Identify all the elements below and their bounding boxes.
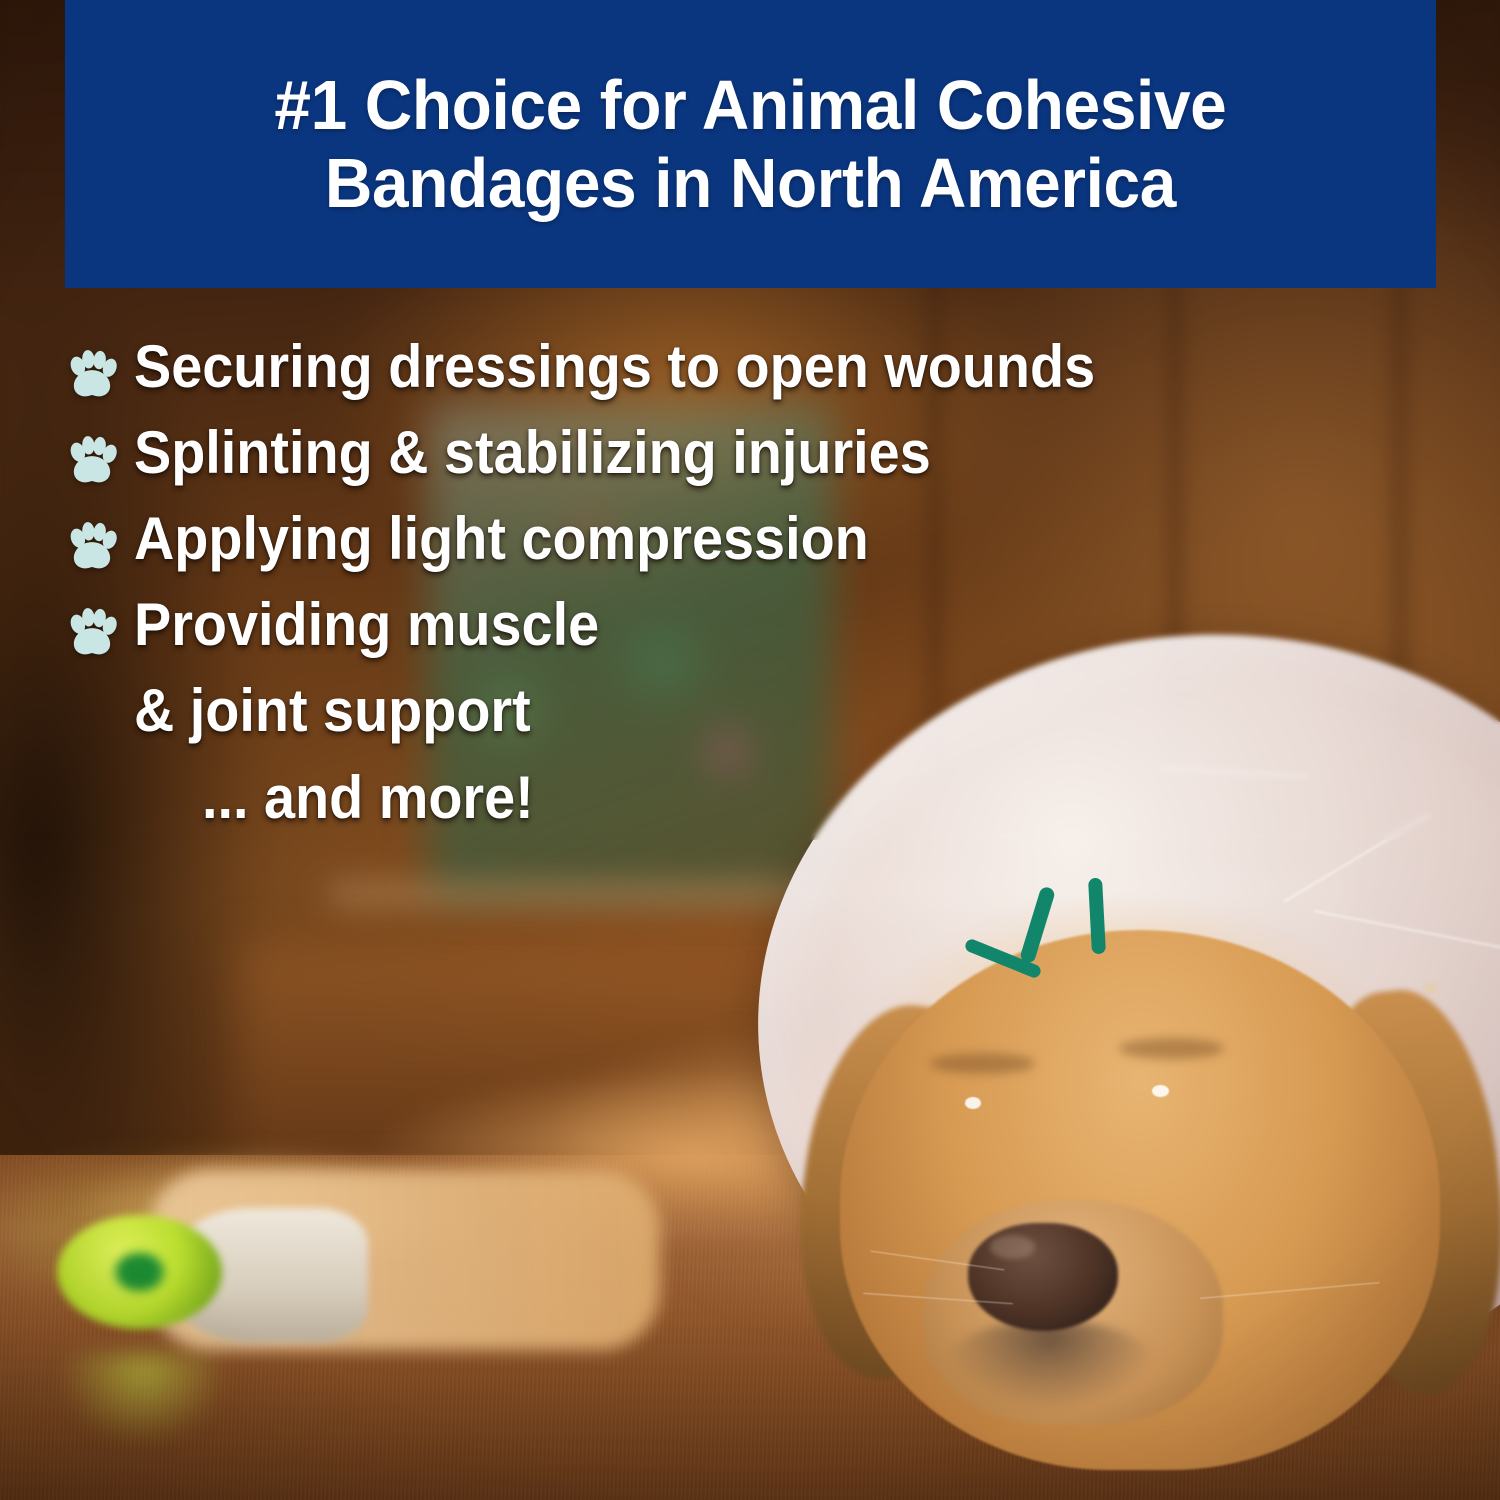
list-item: Providing muscle <box>66 594 1446 658</box>
chew-toy-reflection <box>60 1353 225 1443</box>
paw-print-icon <box>66 608 118 658</box>
dog-eye-highlight <box>1152 1085 1169 1097</box>
headline-banner: #1 Choice for Animal Cohesive Bandages i… <box>65 0 1436 288</box>
cone-scratch <box>1313 909 1500 951</box>
list-item: Applying light compression <box>66 508 1446 572</box>
benefits-list: Securing dressings to open wounds Splint… <box>66 336 1446 850</box>
headline-text: #1 Choice for Animal Cohesive Bandages i… <box>274 66 1226 223</box>
headline-line-1: #1 Choice for Animal Cohesive <box>274 66 1226 144</box>
list-item-continuation: & joint support <box>66 680 1446 741</box>
paw-print-icon <box>66 436 118 486</box>
paw-print-icon <box>66 522 118 572</box>
list-item-label: Securing dressings to open wounds <box>134 336 1095 397</box>
dog-nose-highlight <box>990 1235 1035 1259</box>
list-closing-item: ... and more! <box>66 767 1446 828</box>
chew-toy-marking <box>114 1253 165 1292</box>
list-item-label: Applying light compression <box>134 508 869 569</box>
dog-brow-left <box>930 1053 1035 1074</box>
dog-eye-left <box>948 1089 1017 1137</box>
dog-eye-right <box>1134 1077 1203 1125</box>
list-item: Splinting & stabilizing injuries <box>66 422 1446 486</box>
cone-blemish <box>1422 982 1439 993</box>
dog-nose <box>968 1223 1118 1331</box>
paw-print-icon <box>66 350 118 400</box>
promo-image: #1 Choice for Animal Cohesive Bandages i… <box>0 0 1500 1500</box>
list-item-label: Splinting & stabilizing injuries <box>134 422 931 483</box>
list-item: Securing dressings to open wounds <box>66 336 1446 400</box>
dog-eye-highlight <box>965 1097 982 1109</box>
list-closing-label: ... and more! <box>202 767 534 828</box>
list-item-continuation-label: & joint support <box>134 680 531 741</box>
list-item-label: Providing muscle <box>134 594 599 655</box>
dog-brow-right <box>1119 1038 1224 1059</box>
dog-chin <box>945 1320 1155 1410</box>
headline-line-2: Bandages in North America <box>325 144 1176 222</box>
